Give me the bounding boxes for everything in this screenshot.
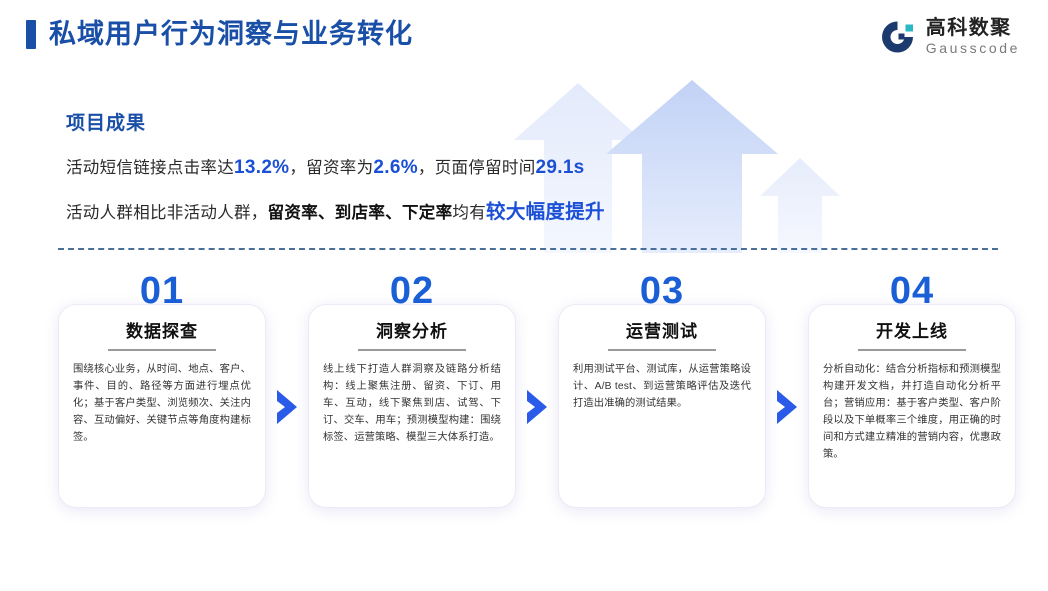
- step-title-rule-01: [108, 349, 216, 351]
- results-line2-text1: 活动人群相比非活动人群，: [66, 204, 268, 222]
- results-metric-ctr: 13.2%: [234, 157, 289, 178]
- step-card-04[interactable]: 04 开发上线 分析自动化：结合分析指标和预测模型构建开发文档，并打造自动化分析…: [808, 272, 1016, 520]
- results-line1-text1: 活动短信链接点击率达: [66, 159, 234, 177]
- step-title-02: 洞察分析: [323, 323, 501, 340]
- brand-logo: 高科数聚 Gausscode: [877, 17, 1020, 57]
- results-line2-text2: 均有: [452, 204, 486, 222]
- decor-arrow-right: [760, 158, 840, 253]
- results-line2-highlight: 较大幅度提升: [486, 201, 605, 223]
- project-results-section: 项目成果 活动短信链接点击率达13.2%，留资率为2.6%，页面停留时间29.1…: [66, 108, 706, 245]
- brand-name-cn: 高科数聚: [926, 18, 1020, 40]
- results-metric-dwelltime: 29.1s: [536, 157, 585, 178]
- step-number-03: 03: [558, 272, 766, 310]
- step-title-04: 开发上线: [823, 323, 1001, 340]
- step-number-04: 04: [808, 272, 1016, 310]
- process-steps: 01 数据探查 围绕核心业务，从时间、地点、客户、事件、目的、路径等方面进行埋点…: [58, 272, 1018, 522]
- step-card-body-01[interactable]: 数据探查 围绕核心业务，从时间、地点、客户、事件、目的、路径等方面进行埋点优化；…: [58, 304, 266, 508]
- page-title: 私域用户行为洞察与业务转化: [26, 20, 413, 49]
- step-description-04: 分析自动化：结合分析指标和预测模型构建开发文档，并打造自动化分析平台；营销应用：…: [823, 362, 1001, 464]
- results-metric-leadrate: 2.6%: [373, 157, 418, 178]
- step-title-01: 数据探查: [73, 323, 251, 340]
- page-header: 私域用户行为洞察与业务转化 高科数聚 Gausscode: [0, 0, 1048, 78]
- step-card-body-02[interactable]: 洞察分析 线上线下打造人群洞察及链路分析结构：线上聚焦注册、留资、下订、用车、互…: [308, 304, 516, 508]
- results-line-1: 活动短信链接点击率达13.2%，留资率为2.6%，页面停留时间29.1s: [66, 157, 706, 180]
- step-title-rule-04: [858, 349, 966, 351]
- brand-name-en: Gausscode: [926, 41, 1020, 56]
- chevron-right-icon-3: [774, 390, 800, 424]
- results-line-2: 活动人群相比非活动人群，留资率、到店率、下定率均有较大幅度提升: [66, 201, 706, 224]
- step-title-03: 运营测试: [573, 323, 751, 340]
- step-card-body-03[interactable]: 运营测试 利用测试平台、测试库，从运营策略设计、A/B test、到运营策略评估…: [558, 304, 766, 508]
- chevron-right-icon-2: [524, 390, 550, 424]
- results-line1-text2: ，留资率为: [289, 159, 373, 177]
- title-accent-bar: [26, 20, 36, 49]
- step-number-01: 01: [58, 272, 266, 310]
- step-card-02[interactable]: 02 洞察分析 线上线下打造人群洞察及链路分析结构：线上聚焦注册、留资、下订、用…: [308, 272, 516, 520]
- step-card-03[interactable]: 03 运营测试 利用测试平台、测试库，从运营策略设计、A/B test、到运营策…: [558, 272, 766, 520]
- step-card-body-04[interactable]: 开发上线 分析自动化：结合分析指标和预测模型构建开发文档，并打造自动化分析平台；…: [808, 304, 1016, 508]
- results-heading: 项目成果: [66, 108, 706, 135]
- step-number-02: 02: [308, 272, 516, 310]
- step-description-01: 围绕核心业务，从时间、地点、客户、事件、目的、路径等方面进行埋点优化；基于客户类…: [73, 362, 251, 447]
- step-title-rule-03: [608, 349, 716, 351]
- section-divider: [58, 248, 998, 250]
- results-line1-text3: ，页面停留时间: [418, 159, 536, 177]
- step-card-01[interactable]: 01 数据探查 围绕核心业务，从时间、地点、客户、事件、目的、路径等方面进行埋点…: [58, 272, 266, 520]
- results-line2-bold: 留资率、到店率、下定率: [268, 204, 453, 222]
- chevron-right-icon-1: [274, 390, 300, 424]
- page-title-text: 私域用户行为洞察与业务转化: [49, 21, 413, 48]
- gausscode-logo-icon: [877, 17, 917, 57]
- brand-logo-text: 高科数聚 Gausscode: [926, 18, 1020, 56]
- step-description-03: 利用测试平台、测试库，从运营策略设计、A/B test、到运营策略评估及迭代打造…: [573, 362, 751, 413]
- step-title-rule-02: [358, 349, 466, 351]
- step-description-02: 线上线下打造人群洞察及链路分析结构：线上聚焦注册、留资、下订、用车、互动，线下聚…: [323, 362, 501, 447]
